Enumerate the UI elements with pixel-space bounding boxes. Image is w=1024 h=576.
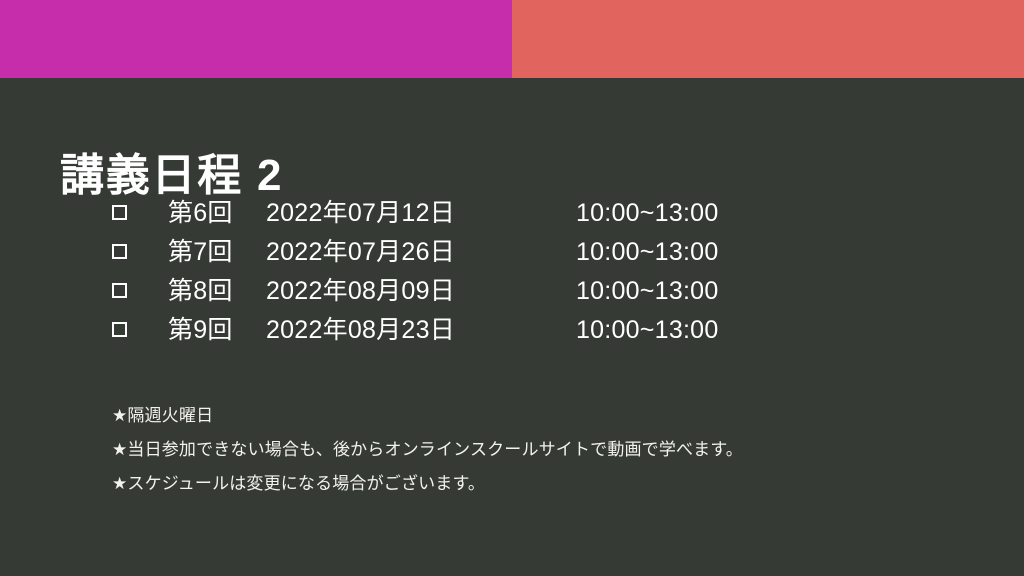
presentation-slide: 講義日程 2 第6回 2022年07月12日 10:00~13:00 第7回 2… — [0, 0, 1024, 576]
session-date: 2022年07月12日 — [266, 201, 576, 226]
schedule-list: 第6回 2022年07月12日 10:00~13:00 第7回 2022年07月… — [112, 194, 912, 350]
list-item: 第9回 2022年08月23日 10:00~13:00 — [112, 311, 912, 350]
note-line: ★隔週火曜日 — [112, 398, 972, 432]
shadowed-square-bullet-icon — [112, 280, 168, 302]
shadowed-square-bullet-icon — [112, 319, 168, 341]
session-label: 第9回 — [168, 318, 266, 343]
list-item: 第8回 2022年08月09日 10:00~13:00 — [112, 272, 912, 311]
shadowed-square-bullet-icon — [112, 202, 168, 224]
note-line: ★当日参加できない場合も、後からオンラインスクールサイトで動画で学べます。 — [112, 432, 972, 466]
session-label: 第8回 — [168, 279, 266, 304]
band-segment-magenta — [0, 0, 512, 78]
session-date: 2022年08月09日 — [266, 279, 576, 304]
shadowed-square-bullet-icon — [112, 241, 168, 263]
session-label: 第7回 — [168, 240, 266, 265]
notes-block: ★隔週火曜日 ★当日参加できない場合も、後からオンラインスクールサイトで動画で学… — [112, 398, 972, 500]
session-date: 2022年07月26日 — [266, 240, 576, 265]
session-time: 10:00~13:00 — [576, 240, 718, 265]
session-time: 10:00~13:00 — [576, 318, 718, 343]
note-line: ★スケジュールは変更になる場合がございます。 — [112, 466, 972, 500]
session-date: 2022年08月23日 — [266, 318, 576, 343]
session-time: 10:00~13:00 — [576, 279, 718, 304]
session-time: 10:00~13:00 — [576, 201, 718, 226]
decorative-top-band — [0, 0, 1024, 78]
band-segment-coral — [512, 0, 1024, 78]
list-item: 第6回 2022年07月12日 10:00~13:00 — [112, 194, 912, 233]
list-item: 第7回 2022年07月26日 10:00~13:00 — [112, 233, 912, 272]
session-label: 第6回 — [168, 201, 266, 226]
